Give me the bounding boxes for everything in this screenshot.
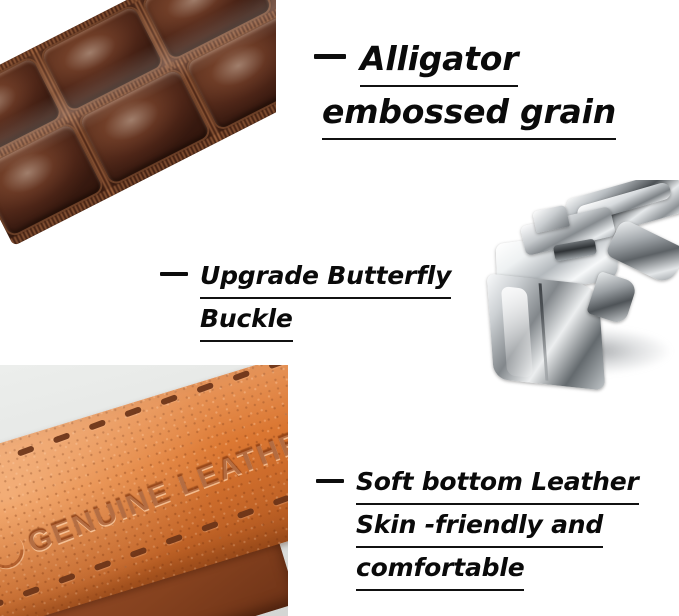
callout-buckle-text: Upgrade Butterfly Buckle bbox=[200, 256, 451, 342]
alligator-scale-pattern bbox=[0, 0, 276, 246]
callout-line: embossed grain bbox=[322, 87, 616, 140]
genuine-leather-photo: GENUINE LEATHER bbox=[0, 365, 288, 616]
callout-alligator-text: Alligator embossed grain bbox=[360, 34, 616, 140]
callout-dash-marker bbox=[160, 272, 188, 276]
callout-line: Buckle bbox=[200, 299, 293, 342]
infographic-canvas: GENUINE LEATHER Alligator embossed grain… bbox=[0, 0, 679, 616]
alligator-leather-surface bbox=[0, 0, 276, 246]
genuine-leather-strap-body: GENUINE LEATHER bbox=[0, 365, 288, 616]
alligator-strap-photo bbox=[0, 0, 276, 250]
callout-dash-marker bbox=[316, 479, 344, 483]
callout-line: Skin -friendly and bbox=[356, 505, 603, 548]
alligator-strap-body bbox=[0, 0, 276, 250]
callout-soft-bottom-text: Soft bottom Leather Skin -friendly and c… bbox=[356, 462, 639, 591]
callout-line: Soft bottom Leather bbox=[356, 462, 639, 505]
callout-line: comfortable bbox=[356, 548, 524, 591]
butterfly-buckle-photo bbox=[470, 180, 679, 405]
callout-dash-marker bbox=[314, 54, 346, 59]
callout-line: Alligator bbox=[360, 34, 518, 87]
callout-line: Upgrade Butterfly bbox=[200, 256, 451, 299]
